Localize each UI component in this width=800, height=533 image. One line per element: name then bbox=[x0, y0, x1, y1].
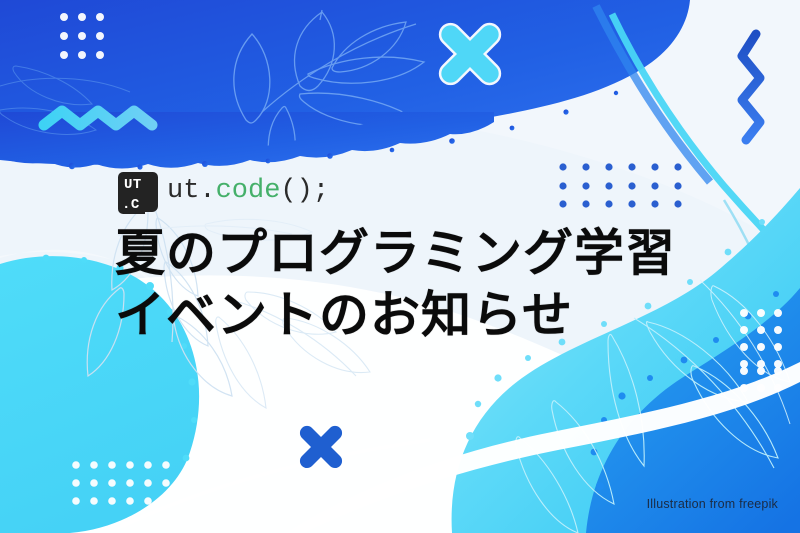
illustration-credit: Illustration from freepik bbox=[647, 497, 778, 511]
headline-line-1: 夏のプログラミング学習 bbox=[115, 222, 676, 284]
brand-lockup: UT .C ut.code(); bbox=[118, 172, 329, 214]
logo-text-bottom: .C bbox=[122, 198, 140, 212]
wordmark-suffix: (); bbox=[280, 176, 329, 206]
headline-line-2: イベントのお知らせ bbox=[115, 284, 676, 346]
event-banner: UT .C ut.code(); 夏のプログラミング学習 イベントのお知らせ I… bbox=[0, 0, 800, 533]
logo-text-top: UT bbox=[124, 178, 142, 192]
wordmark-accent: code bbox=[216, 176, 281, 206]
brand-wordmark: ut.code(); bbox=[167, 178, 329, 208]
utcode-logo-icon: UT .C bbox=[118, 172, 158, 214]
wordmark-prefix: ut. bbox=[167, 176, 216, 206]
page-title: 夏のプログラミング学習 イベントのお知らせ bbox=[115, 222, 676, 346]
dot-grid-top-left bbox=[60, 13, 104, 59]
